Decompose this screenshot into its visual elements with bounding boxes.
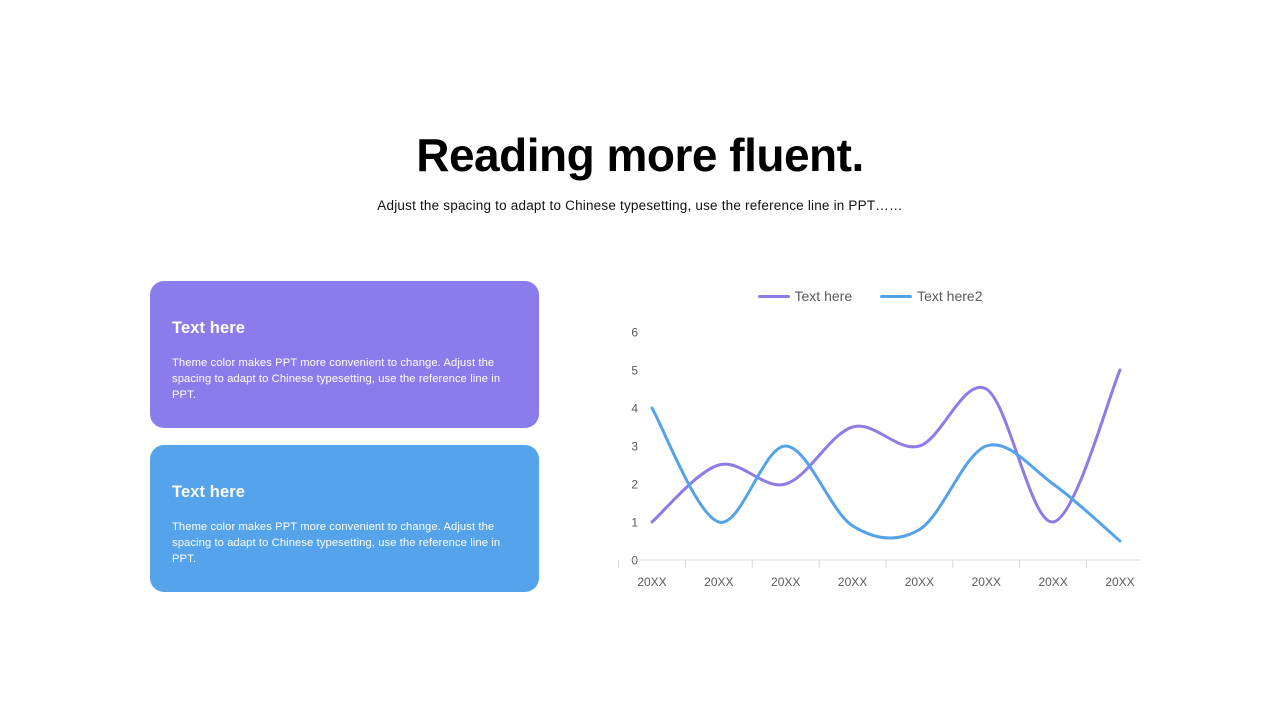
page-header: Reading more fluent. Adjust the spacing … (0, 130, 1280, 213)
x-axis-tick-label: 20XX (1105, 575, 1134, 589)
y-axis-tick-label: 2 (631, 478, 638, 492)
x-axis-tick-label: 20XX (771, 575, 800, 589)
x-axis-tick-label: 20XX (972, 575, 1001, 589)
legend-item-series-0[interactable]: Text here (758, 288, 853, 304)
legend-item-series-1[interactable]: Text here2 (880, 288, 982, 304)
y-axis-tick-label: 5 (631, 364, 638, 378)
chart-series-line-0[interactable] (652, 370, 1120, 522)
x-axis-tick-label: 20XX (637, 575, 666, 589)
y-axis-tick-label: 4 (631, 402, 638, 416)
y-axis-labels: 0123456 (631, 326, 638, 568)
info-card-title: Text here (172, 483, 517, 502)
info-card-list: Text here Theme color makes PPT more con… (150, 281, 539, 609)
legend-swatch-icon (758, 295, 790, 298)
chart-plot-area: 0123456 20XX20XX20XX20XX20XX20XX20XX20XX (600, 318, 1140, 598)
info-card-purple[interactable]: Text here Theme color makes PPT more con… (150, 281, 539, 428)
page-subtitle: Adjust the spacing to adapt to Chinese t… (0, 198, 1280, 213)
info-card-body: Theme color makes PPT more convenient to… (172, 520, 517, 568)
y-axis-tick-label: 6 (631, 326, 638, 340)
chart-legend: Text here Text here2 (600, 288, 1140, 304)
page-title: Reading more fluent. (0, 130, 1280, 181)
x-axis-tick-label: 20XX (1038, 575, 1067, 589)
legend-label: Text here (795, 288, 853, 304)
x-axis-tick-label: 20XX (905, 575, 934, 589)
y-axis-tick-label: 1 (631, 516, 638, 530)
chart-series-group (652, 370, 1120, 541)
legend-label: Text here2 (917, 288, 982, 304)
info-card-blue[interactable]: Text here Theme color makes PPT more con… (150, 445, 539, 592)
x-axis-tick-label: 20XX (704, 575, 733, 589)
info-card-body: Theme color makes PPT more convenient to… (172, 356, 517, 404)
line-chart: Text here Text here2 0123456 20XX20XX20X… (600, 288, 1140, 598)
info-card-title: Text here (172, 319, 517, 338)
x-axis-tick-label: 20XX (838, 575, 867, 589)
x-axis-ticks (619, 560, 1140, 568)
legend-swatch-icon (880, 295, 912, 298)
y-axis-tick-label: 3 (631, 440, 638, 454)
x-axis-labels: 20XX20XX20XX20XX20XX20XX20XX20XX (637, 575, 1134, 589)
